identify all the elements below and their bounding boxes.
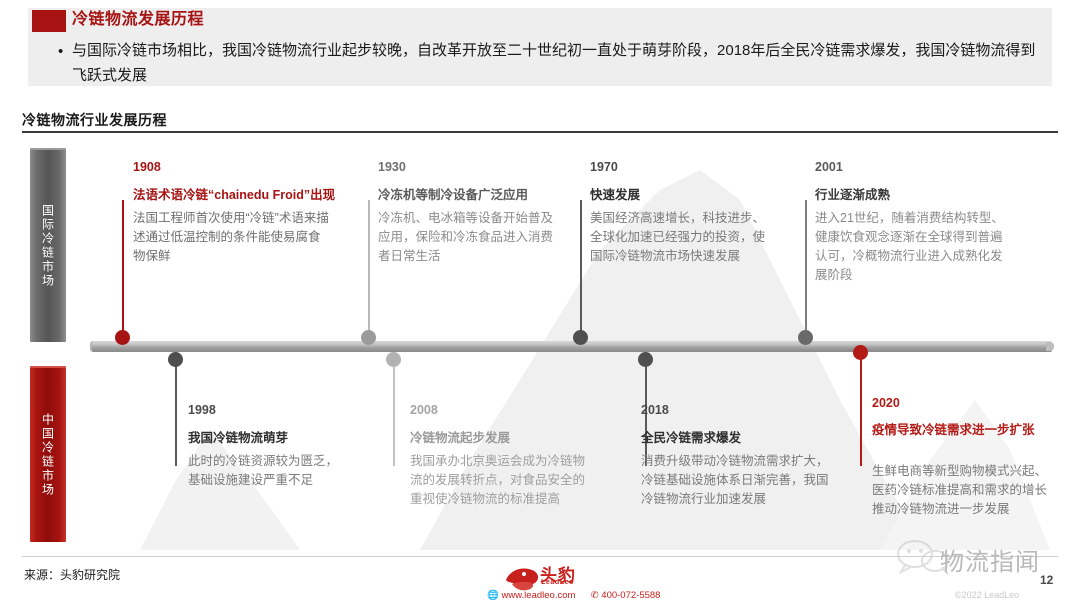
timeline-body: 消费升级带动冷链物流需求扩大，冷链基础设施体系日渐完善，我国冷链物流行业加速发展 xyxy=(641,452,833,509)
category-label-international: 国际冷链市场 xyxy=(40,204,57,288)
source-text: 来源：头豹研究院 xyxy=(24,566,120,583)
timeline-headline: 全民冷链需求爆发 xyxy=(641,430,851,447)
timeline-body: 此时的冷链资源较为匮乏，基础设施建设严重不足 xyxy=(188,452,340,490)
section-title: 冷链物流行业发展历程 xyxy=(22,110,167,130)
timeline-stem xyxy=(175,352,177,466)
timeline-year: 2018 xyxy=(641,403,669,417)
timeline-dot xyxy=(853,345,868,360)
brand-subname: LeadLeo xyxy=(541,579,574,586)
timeline-year: 1970 xyxy=(590,160,618,174)
timeline-year: 1998 xyxy=(188,403,216,417)
timeline-stem xyxy=(805,200,807,340)
timeline-body: 生鲜电商等新型购物模式兴起、医药冷链标准提高和需求的增长推动冷链物流进一步发展 xyxy=(872,462,1052,519)
accent-square-icon xyxy=(32,10,66,32)
header-bullet: • 与国际冷链市场相比，我国冷链物流行业起步较晚，自改革开放至二十世纪初一直处于… xyxy=(58,38,1048,88)
timeline-dot xyxy=(798,330,813,345)
timeline-headline: 冷链物流起步发展 xyxy=(410,430,610,447)
timeline-year: 2020 xyxy=(872,396,900,410)
timeline-headline: 我国冷链物流萌芽 xyxy=(188,430,388,447)
timeline-headline: 快速发展 xyxy=(590,187,790,204)
page-number: 12 xyxy=(1040,573,1053,587)
phone-text: 400-072-5588 xyxy=(601,590,660,601)
timeline-dot xyxy=(168,352,183,367)
timeline-dot xyxy=(361,330,376,345)
header-bullet-text: 与国际冷链市场相比，我国冷链物流行业起步较晚，自改革开放至二十世纪初一直处于萌芽… xyxy=(72,38,1048,88)
phone-icon: ✆ xyxy=(591,590,599,601)
timeline-body: 进入21世纪，随着消费结构转型、健康饮食观念逐渐在全球得到普遍认可，冷概物流行业… xyxy=(815,209,1011,285)
timeline-axis xyxy=(92,341,1052,352)
timeline-year: 2008 xyxy=(410,403,438,417)
slide-page: 冷链物流发展历程 • 与国际冷链市场相比，我国冷链物流行业起步较晚，自改革开放至… xyxy=(0,0,1080,607)
website-text: www.leadleo.com xyxy=(501,590,575,601)
timeline-body: 我国承办北京奥运会成为冷链物流的发展转折点，对食品安全的重视使冷链物流的标准提高 xyxy=(410,452,590,509)
timeline-dot xyxy=(573,330,588,345)
timeline-dot xyxy=(115,330,130,345)
copyright-text: ©2022 LeadLeo xyxy=(955,590,1019,600)
page-title: 冷链物流发展历程 xyxy=(72,8,204,32)
bullet-dot-icon: • xyxy=(58,39,63,64)
timeline-headline: 冷冻机等制冷设备广泛应用 xyxy=(378,187,578,204)
timeline-headline: 行业逐渐成熟 xyxy=(815,187,1025,204)
timeline-year: 1930 xyxy=(378,160,406,174)
timeline-stem xyxy=(580,200,582,340)
timeline-stem xyxy=(393,352,395,466)
timeline-stem xyxy=(122,200,124,340)
timeline-year: 1908 xyxy=(133,160,161,174)
timeline-dot xyxy=(638,352,653,367)
timeline-stem xyxy=(860,352,862,466)
timeline-body: 法国工程师首次使用“冷链”术语来描述通过低温控制的条件能使易腐食物保鲜 xyxy=(133,209,329,266)
globe-icon: 🌐 xyxy=(487,590,499,601)
category-label-china: 中国冷链市场 xyxy=(40,413,57,497)
timeline-dot xyxy=(386,352,401,367)
timeline-axis-right-cap xyxy=(1046,342,1054,351)
timeline-body: 冷冻机、电冰箱等设备开始普及应用，保险和冷冻食品进入消费者日常生活 xyxy=(378,209,558,266)
timeline-stem xyxy=(368,200,370,340)
timeline-headline: 疫情导致冷链需求进一步扩张 xyxy=(872,422,1050,439)
category-bar-china: 中国冷链市场 xyxy=(30,366,66,542)
watermark-text: 物流指闻 xyxy=(940,542,1040,577)
timeline-year: 2001 xyxy=(815,160,843,174)
timeline-body: 美国经济高速增长，科技进步、全球化加速已经强力的投资，使国际冷链物流市场快速发展 xyxy=(590,209,772,266)
brand-contact: 🌐 www.leadleo.com ✆ 400-072-5588 xyxy=(487,590,660,601)
category-bar-international: 国际冷链市场 xyxy=(30,148,66,342)
timeline-headline: 法语术语冷链“chainedu Froid”出现 xyxy=(133,187,348,204)
